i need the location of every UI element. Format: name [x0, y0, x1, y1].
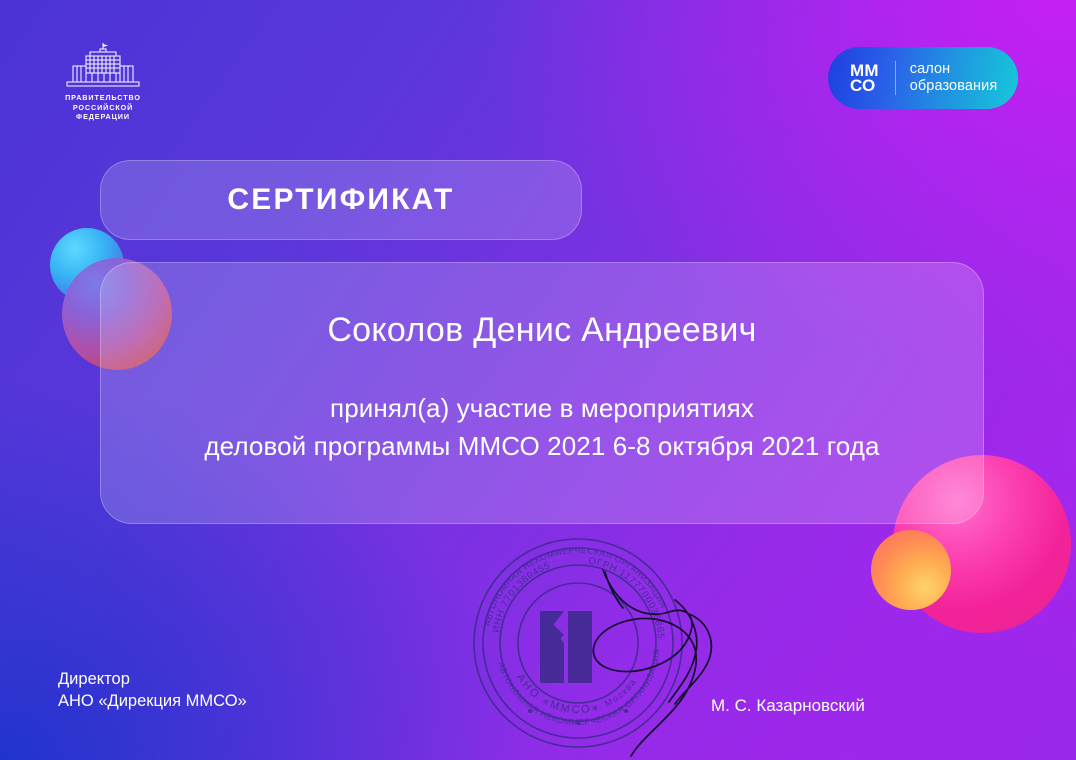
gov-logo-line-1: ПРАВИТЕЛЬСТВО [47, 93, 159, 103]
gov-logo-line-3: ФЕДЕРАЦИИ [47, 112, 159, 122]
recipient-name: Соколов Денис Андреевич [101, 311, 983, 350]
director-block: Директор АНО «Дирекция ММСО» [58, 668, 247, 712]
certificate-canvas: ПРАВИТЕЛЬСТВО РОССИЙСКОЙ ФЕДЕРАЦИИ ММ СО… [0, 0, 1076, 760]
decorative-sphere-orange [871, 530, 951, 610]
mmco-tagline: салон образования [910, 61, 998, 96]
certificate-body-card: Соколов Денис Андреевич принял(а) участи… [100, 262, 984, 524]
achievement-line-1: принял(а) участие в мероприятиях [101, 393, 983, 424]
certificate-title-pill: СЕРТИФИКАТ [100, 160, 582, 240]
mmco-logo: ММ СО салон образования [828, 47, 1018, 109]
mmco-tagline-line-1: салон [910, 61, 998, 79]
mmco-wordmark-line-2: СО [850, 78, 879, 93]
handwritten-signature [565, 560, 745, 760]
director-title: Директор [58, 668, 247, 690]
signatory-name: М. С. Казарновский [711, 696, 865, 716]
mmco-tagline-line-2: образования [910, 78, 998, 96]
mmco-wordmark: ММ СО [850, 63, 879, 93]
russian-government-house-emblem [59, 42, 147, 88]
government-logo: ПРАВИТЕЛЬСТВО РОССИЙСКОЙ ФЕДЕРАЦИИ [47, 42, 159, 122]
certificate-title: СЕРТИФИКАТ [227, 183, 454, 217]
director-organization: АНО «Дирекция ММСО» [58, 690, 247, 712]
gov-logo-line-2: РОССИЙСКОЙ [47, 103, 159, 113]
achievement-line-2: деловой программы ММСО 2021 6-8 октября … [101, 431, 983, 462]
mmco-logo-divider [895, 61, 896, 95]
